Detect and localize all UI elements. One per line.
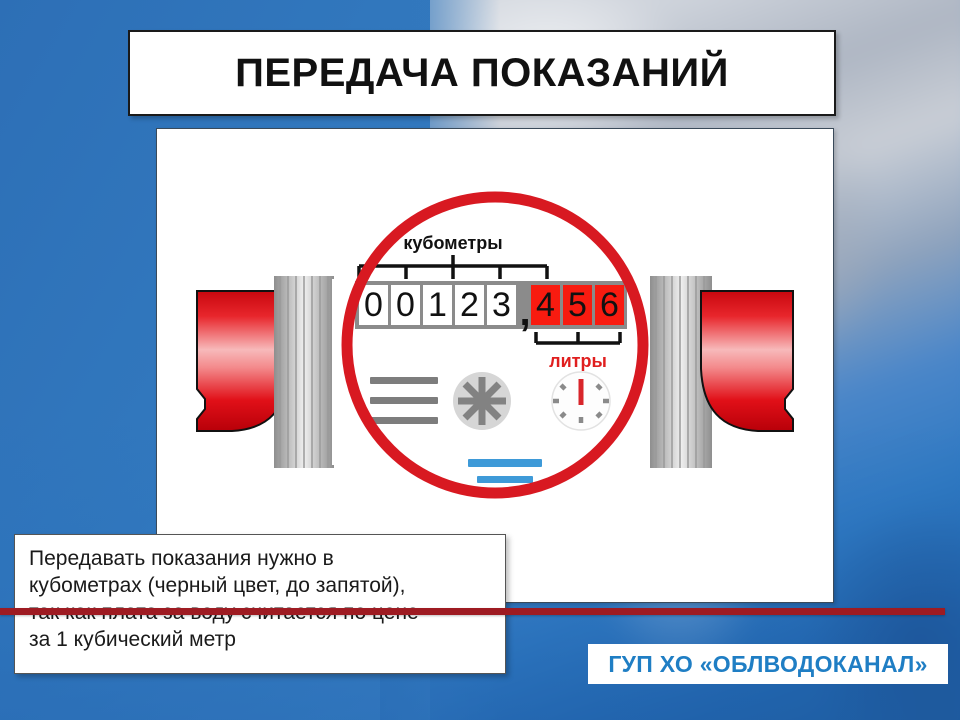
cubic-label: кубометры [403,233,502,253]
meter-blue-bars [468,459,542,483]
slide-root: ПЕРЕДАЧА ПОКАЗАНИЙ [0,0,960,720]
digit-liter-2: 6 [600,286,619,324]
liters-dial-icon [552,372,610,430]
dial-needle [579,379,584,405]
pipe-right [701,291,793,431]
digit-liter-1: 5 [568,286,587,324]
digit-liter-0: 4 [536,286,555,324]
digit-cubic-3: 2 [460,286,479,324]
red-divider-rule [0,608,945,615]
digit-cubic-1: 0 [396,286,415,324]
page-title: ПЕРЕДАЧА ПОКАЗАНИЙ [235,51,729,96]
caption-line-1: Передавать показания нужно в [29,545,491,572]
caption-line-2: кубометрах (черный цвет, до запятой), [29,572,491,599]
digit-cubic-0: 0 [364,286,383,324]
water-meter-illustration: 0 0 1 2 3 , 4 5 6 кубометры [157,129,833,602]
decimal-separator: , [519,290,530,334]
organization-name: ГУП ХО «ОБЛВОДОКАНАЛ» [608,651,927,678]
caption-line-4: за 1 кубический метр [29,626,491,653]
digit-cubic-4: 3 [492,286,511,324]
title-box: ПЕРЕДАЧА ПОКАЗАНИЙ [128,30,836,116]
cubic-bracket [359,255,547,279]
liters-label: литры [549,351,607,371]
footer-badge: ГУП ХО «ОБЛВОДОКАНАЛ» [588,644,948,684]
illustration-panel: 0 0 1 2 3 , 4 5 6 кубометры [156,128,834,603]
caption-box: Передавать показания нужно в кубометрах … [14,534,506,674]
asterisk-wheel-icon [453,372,511,430]
digit-cubic-2: 1 [428,286,447,324]
meter-collar-left [274,276,334,468]
